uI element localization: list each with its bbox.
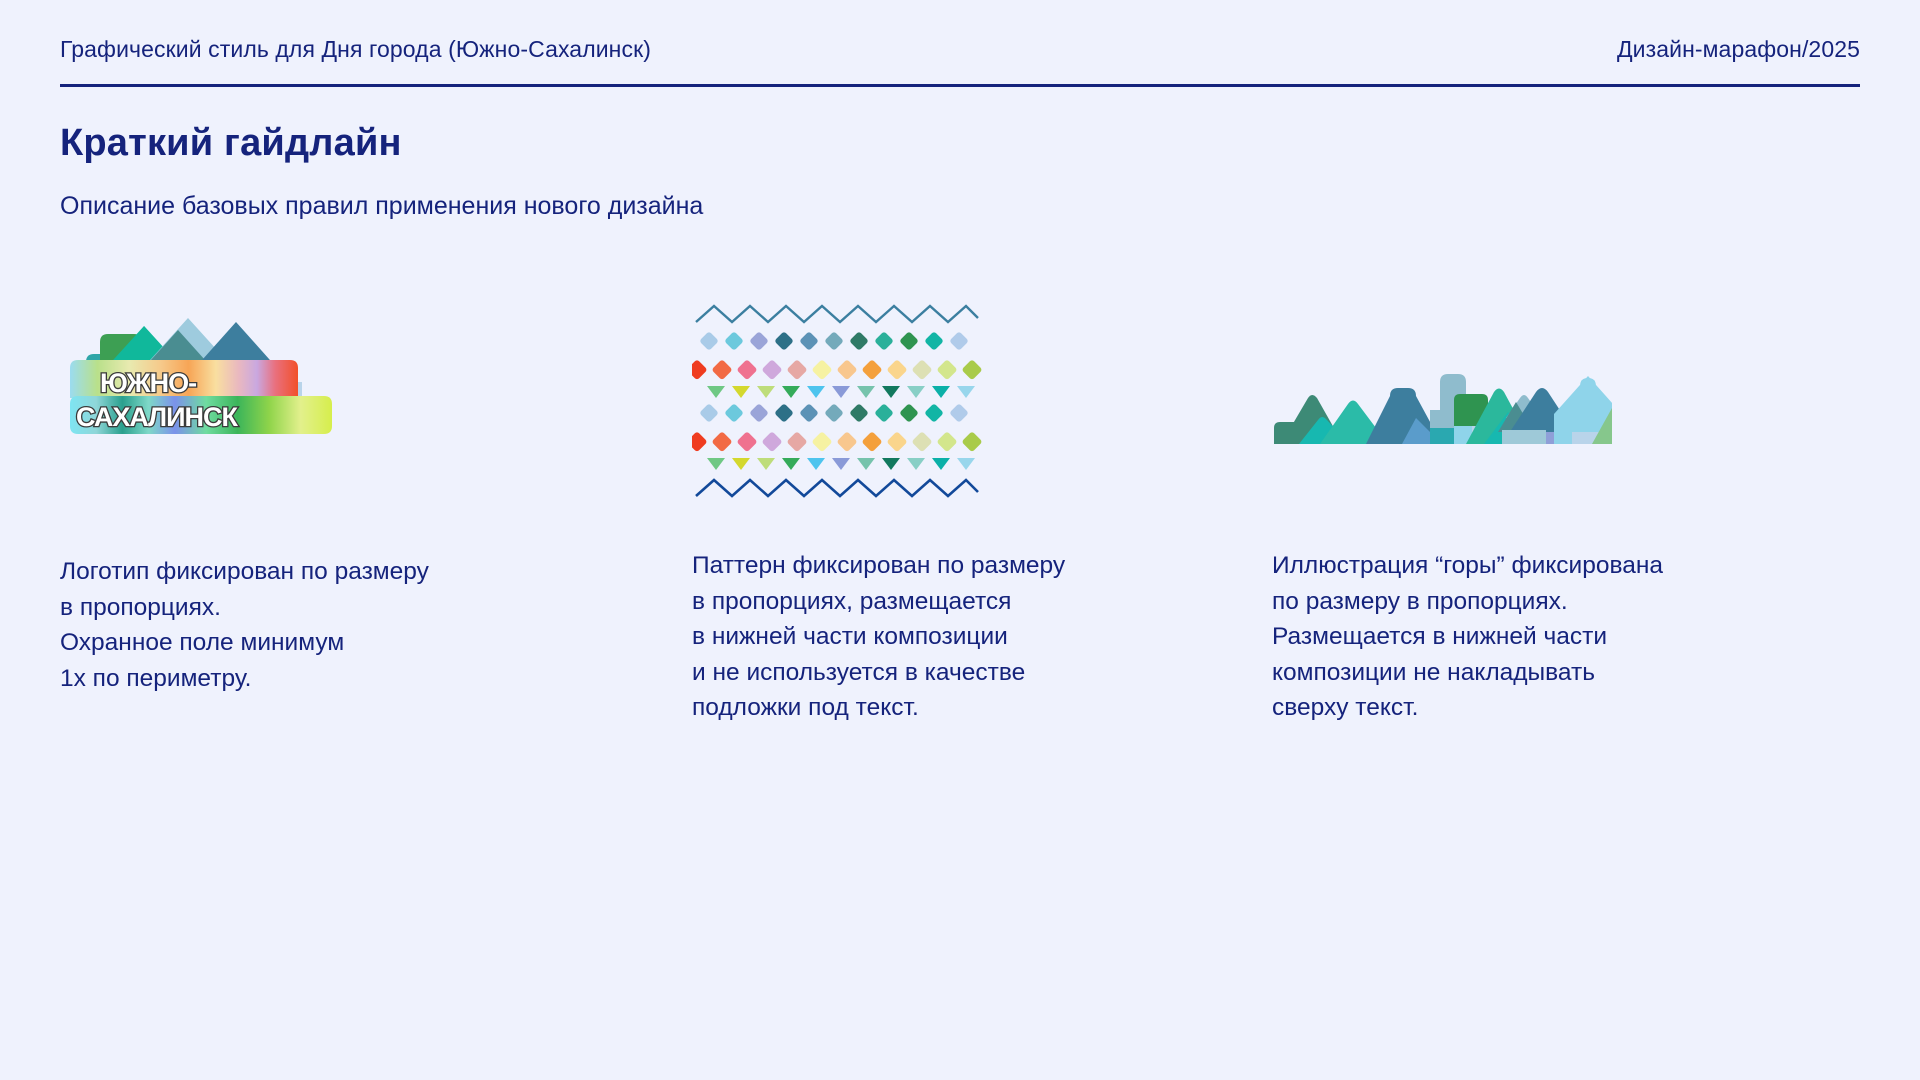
guideline-column-mountains: Иллюстрация “горы” фиксирована по размер… [1272,300,1832,780]
pattern-row-diamond-cool-2 [699,403,969,423]
illustration-mountains-icon [1272,348,1612,448]
page-title: Краткий гайдлайн [60,122,402,165]
svg-text:ЮЖНО-: ЮЖНО- [100,368,196,398]
pattern-artwork [692,300,1252,530]
header-left-text: Графический стиль для Дня города (Южно-С… [60,36,651,63]
page-subtitle: Описание базовых правил применения новог… [60,192,703,221]
pattern-row-diamond-warm-2 [692,431,982,452]
header-divider [60,84,1860,87]
logo-artwork: ЮЖНО- САХАЛИНСК [60,300,620,530]
header-right-text: Дизайн-марафон/2025 [1617,36,1860,63]
logo-yuzhno-sakhalinsk-icon: ЮЖНО- САХАЛИНСК [60,300,360,450]
pattern-diamonds-icon [692,300,982,500]
mountains-artwork [1272,300,1832,530]
slide-header: Графический стиль для Дня города (Южно-С… [60,36,1860,63]
pattern-row-triangle-1 [707,386,975,398]
svg-text:САХАЛИНСК: САХАЛИНСК [76,402,239,432]
guideline-column-logo: ЮЖНО- САХАЛИНСК Логотип фиксирован по ра… [60,300,620,780]
guideline-columns: ЮЖНО- САХАЛИНСК Логотип фиксирован по ра… [0,300,1920,780]
pattern-row-diamond-warm-1 [692,359,982,380]
pattern-row-triangle-2 [707,458,975,470]
pattern-row-diamond-cool-1 [699,331,969,351]
guideline-column-pattern: Паттерн фиксирован по размеру в пропорци… [692,300,1252,780]
caption-logo: Логотип фиксирован по размеру в пропорци… [60,554,429,696]
caption-pattern: Паттерн фиксирован по размеру в пропорци… [692,548,1065,726]
caption-mountains: Иллюстрация “горы” фиксирована по размер… [1272,548,1663,726]
